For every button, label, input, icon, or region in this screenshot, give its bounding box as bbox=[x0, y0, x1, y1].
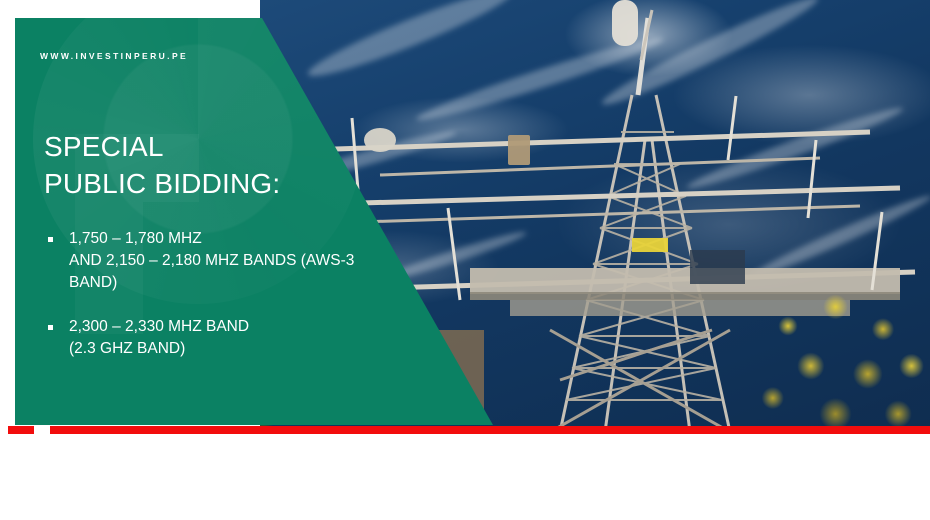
slide: WWW.INVESTINPERU.PE SPECIAL PUBLIC BIDDI… bbox=[0, 0, 930, 520]
red-divider-bar bbox=[50, 426, 930, 434]
list-item: 2,300 – 2,330 MHZ BAND (2.3 GHZ BAND) bbox=[44, 316, 444, 360]
website-url[interactable]: WWW.INVESTINPERU.PE bbox=[40, 51, 188, 61]
foliage-right bbox=[750, 278, 930, 432]
list-item-label: 1,750 – 1,780 MHZ AND 2,150 – 2,180 MHZ … bbox=[69, 228, 354, 294]
list-item-label: 2,300 – 2,330 MHZ BAND (2.3 GHZ BAND) bbox=[69, 316, 249, 360]
red-accent-square bbox=[8, 426, 34, 434]
footer-logo-bar: PERÚ Ministerio de Economía y Finanzas P… bbox=[0, 440, 930, 520]
page-title: SPECIAL PUBLIC BIDDING: bbox=[44, 128, 444, 202]
bullet-list: 1,750 – 1,780 MHZ AND 2,150 – 2,180 MHZ … bbox=[44, 228, 444, 382]
list-item: 1,750 – 1,780 MHZ AND 2,150 – 2,180 MHZ … bbox=[44, 228, 444, 294]
bullet-square-icon bbox=[48, 237, 53, 242]
bullet-square-icon bbox=[48, 325, 53, 330]
